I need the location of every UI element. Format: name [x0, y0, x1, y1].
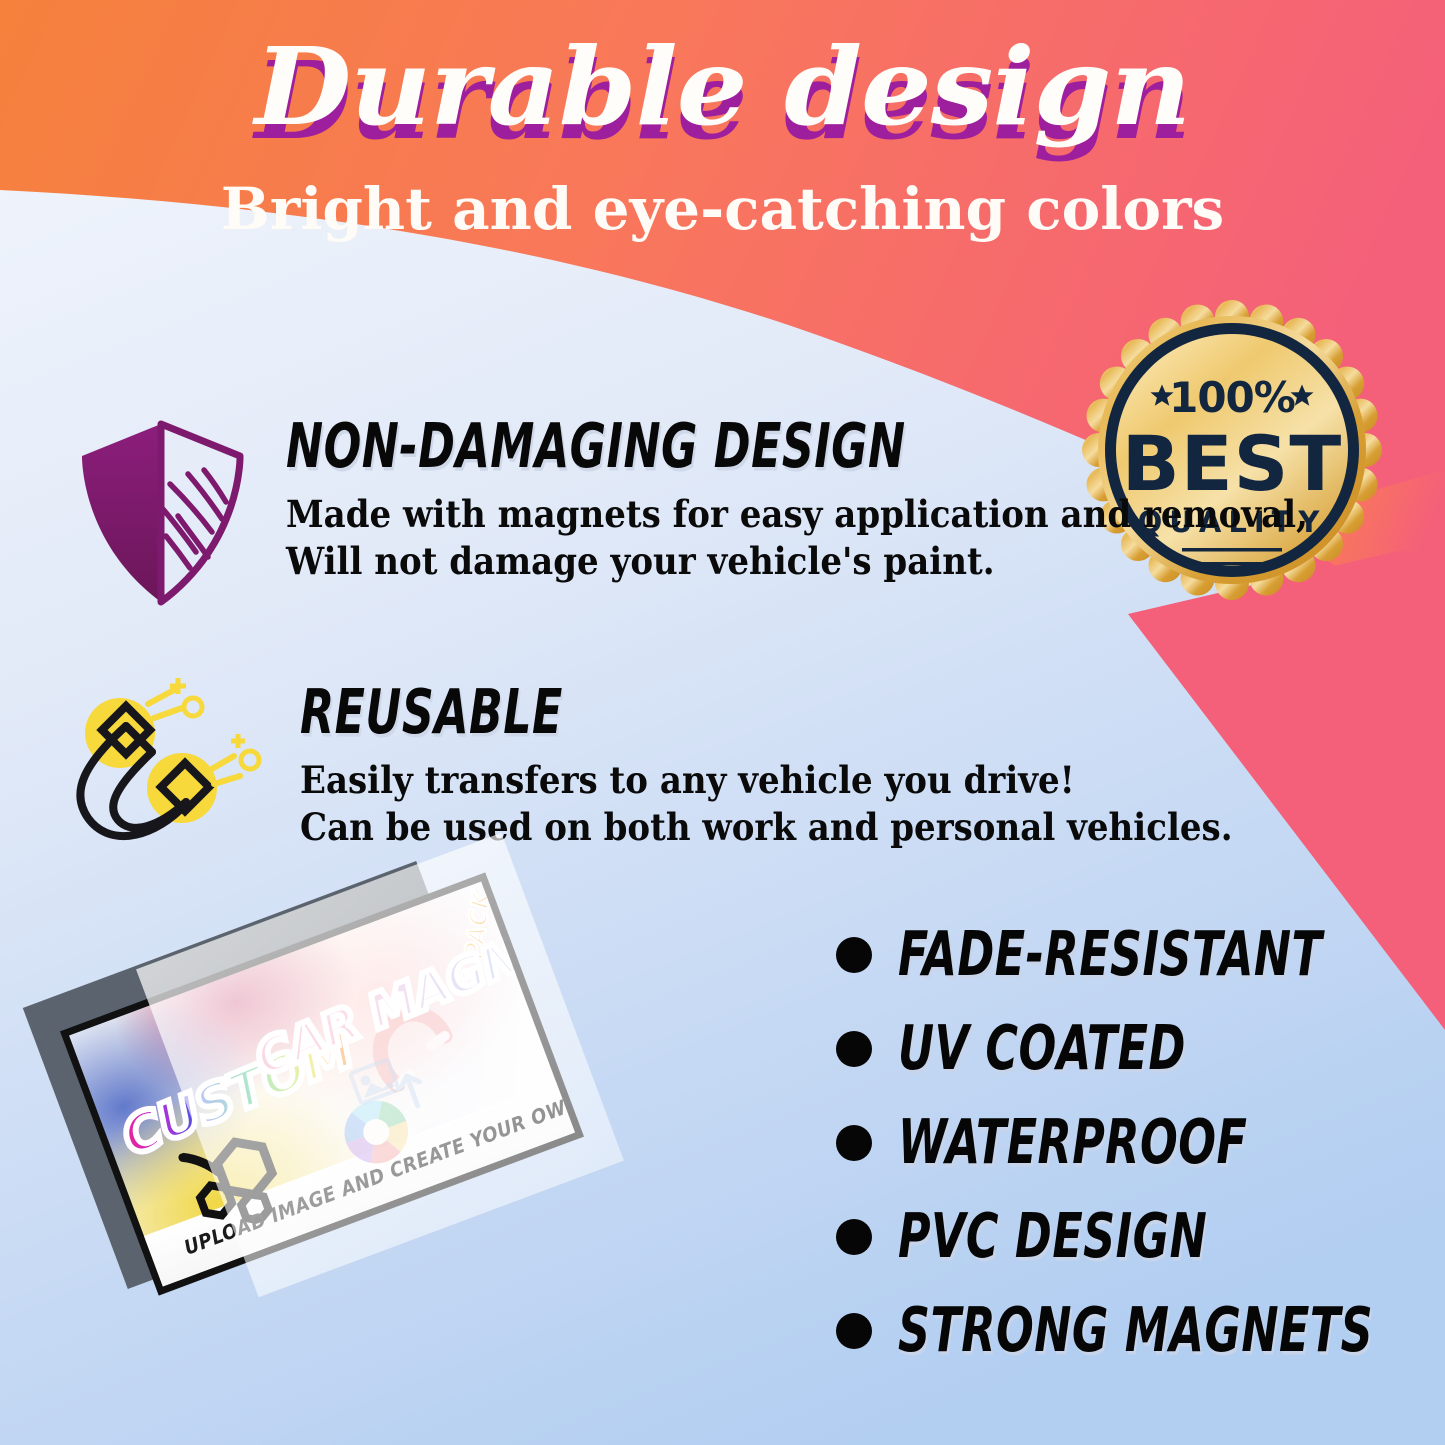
- feature-line: Made with magnets for easy application a…: [286, 491, 1308, 538]
- bullet-label: FADE-RESISTANT: [898, 924, 1322, 985]
- list-item: WATERPROOF: [836, 1096, 1436, 1190]
- bullet-dot-icon: [836, 937, 872, 973]
- bullet-dot-icon: [836, 1313, 872, 1349]
- bullet-dot-icon: [836, 1031, 872, 1067]
- feature-heading: REUSABLE: [300, 682, 1243, 743]
- bullet-label: WATERPROOF: [898, 1112, 1247, 1173]
- feature-reusable: REUSABLE Easily transfers to any vehicle…: [62, 660, 1314, 865]
- bullet-label: STRONG MAGNETS: [898, 1300, 1373, 1361]
- product-mockup: 2 PACK CUSTOM CAR MAGNETS UPLOAD IMAGE A…: [40, 895, 680, 1425]
- product-infographic: Durable design Durable design Bright and…: [0, 0, 1445, 1445]
- bullet-dot-icon: [836, 1125, 872, 1161]
- shield-icon: [66, 412, 256, 617]
- feature-non-damaging: NON-DAMAGING DESIGN Made with magnets fo…: [66, 412, 1397, 617]
- bullet-label: PVC DESIGN: [898, 1206, 1207, 1267]
- list-item: PVC DESIGN: [836, 1190, 1436, 1284]
- bullet-label: UV COATED: [898, 1018, 1186, 1079]
- page-subtitle: Bright and eye-catching colors: [0, 180, 1445, 238]
- bullet-dot-icon: [836, 1219, 872, 1255]
- list-item: STRONG MAGNETS: [836, 1284, 1436, 1378]
- horseshoe-magnet-icon: [62, 660, 262, 865]
- list-item: FADE-RESISTANT: [836, 908, 1436, 1002]
- page-title: Durable design Durable design: [0, 34, 1445, 164]
- header: Durable design Durable design Bright and…: [0, 0, 1445, 250]
- feature-line: Can be used on both work and personal ve…: [300, 804, 1233, 851]
- feature-heading: NON-DAMAGING DESIGN: [286, 416, 1319, 477]
- feature-line: Will not damage your vehicle's paint.: [286, 538, 1308, 585]
- page-title-text: Durable design: [0, 34, 1445, 141]
- feature-line: Easily transfers to any vehicle you driv…: [300, 757, 1233, 804]
- feature-bullet-list: FADE-RESISTANT UV COATED WATERPROOF PVC …: [836, 908, 1436, 1378]
- list-item: UV COATED: [836, 1002, 1436, 1096]
